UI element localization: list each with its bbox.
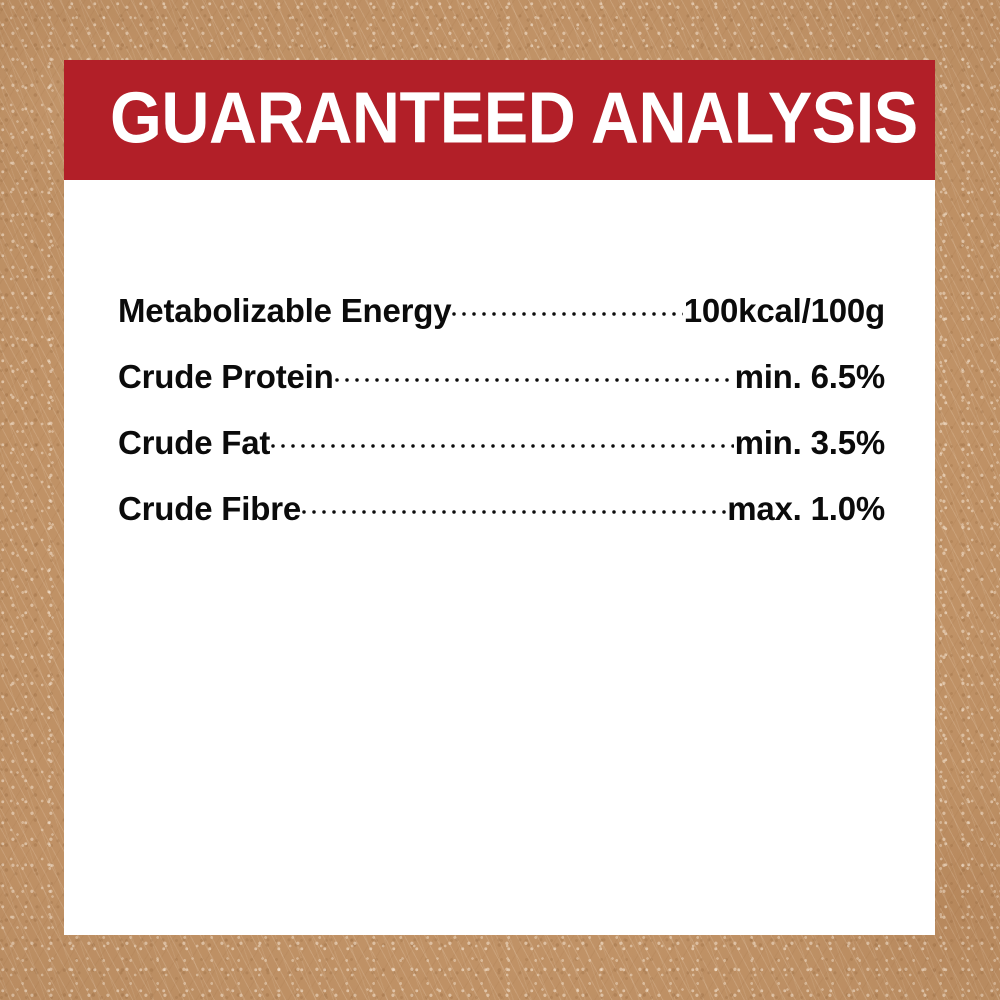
- table-row: Metabolizable Energy 100kcal/100g: [118, 289, 885, 355]
- nutrient-label: Crude Fibre: [118, 490, 301, 528]
- dot-leader: [335, 355, 734, 388]
- page-title: GUARANTEED ANALYSIS: [110, 82, 918, 154]
- dot-leader: [452, 289, 682, 322]
- nutrient-label: Crude Protein: [118, 358, 334, 396]
- dot-leader: [271, 421, 733, 454]
- nutrient-label: Crude Fat: [118, 424, 270, 462]
- table-row: Crude Fat min. 3.5%: [118, 421, 885, 487]
- guaranteed-analysis-label: GUARANTEED ANALYSIS Metabolizable Energy…: [0, 0, 1000, 1000]
- nutrient-label: Metabolizable Energy: [118, 292, 451, 330]
- analysis-table: Metabolizable Energy 100kcal/100g Crude …: [118, 289, 885, 553]
- dot-leader: [302, 487, 726, 520]
- nutrient-value: 100kcal/100g: [684, 292, 885, 330]
- nutrient-value: min. 6.5%: [735, 358, 885, 396]
- table-row: Crude Protein min. 6.5%: [118, 355, 885, 421]
- nutrient-value: max. 1.0%: [727, 490, 885, 528]
- table-row: Crude Fibre max. 1.0%: [118, 487, 885, 553]
- header-banner: GUARANTEED ANALYSIS: [64, 60, 935, 180]
- nutrient-value: min. 3.5%: [735, 424, 885, 462]
